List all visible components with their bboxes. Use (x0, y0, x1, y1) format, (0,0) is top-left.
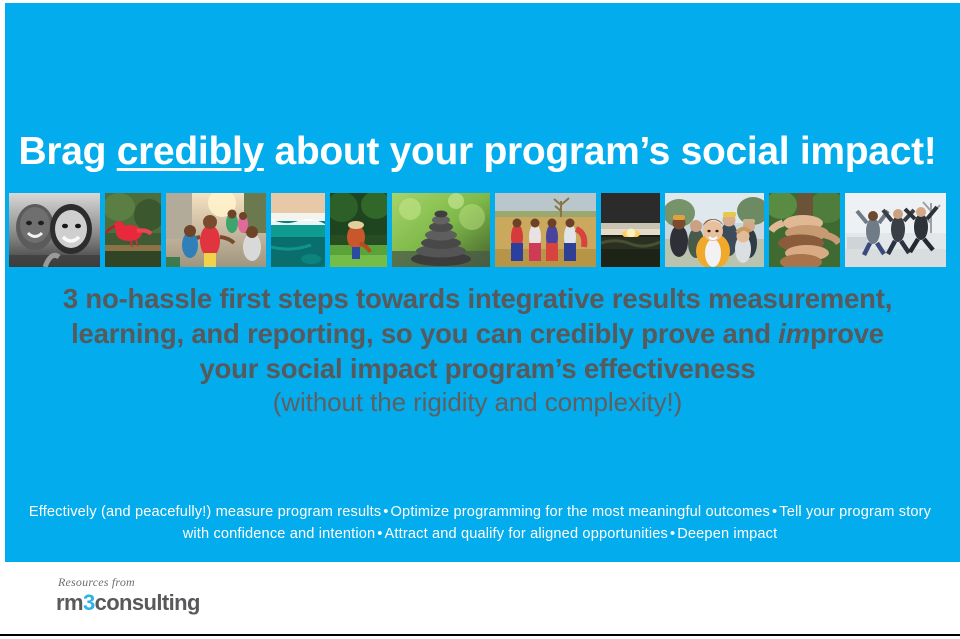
benefits-list: Effectively (and peacefully!) measure pr… (18, 501, 942, 545)
subtitle-emphasis-im: im (778, 318, 810, 349)
photo-aerial-beach-shoreline (271, 193, 325, 267)
rm3consulting-logo: Resources from rm3consulting (56, 575, 200, 615)
benefit-item: Deepen impact (677, 526, 777, 542)
benefit-item: Attract and qualify for aligned opportun… (385, 526, 668, 542)
headline-part-before: Brag (19, 130, 117, 173)
slide-canvas: Brag credibly about your program’s socia… (0, 0, 960, 639)
benefit-separator: • (668, 526, 677, 542)
subtitle-line-2-before: learning, and reporting, so you can cred… (71, 318, 778, 349)
photo-farmer-in-rice-field (330, 193, 387, 267)
photo-stacked-hands-teamwork (769, 193, 840, 267)
logo-wordmark: rm3consulting (56, 590, 200, 615)
logo-kicker-text: Resources from (58, 575, 200, 589)
photo-stacked-balancing-stones (392, 193, 490, 267)
subtitle-line-3: your social impact program’s effectivene… (18, 351, 937, 386)
subtitle-line-2-after: prove (810, 318, 884, 349)
benefit-separator: • (770, 504, 779, 520)
photo-maasai-women-grassland (495, 193, 596, 267)
subtitle-parenthetical: (without the rigidity and complexity!) (18, 386, 937, 418)
photo-children-running-village-road (166, 193, 266, 267)
photo-diverse-youth-group-selfie (665, 193, 764, 267)
headline-part-after: about your program’s social impact! (264, 130, 937, 173)
benefit-item: Effectively (and peacefully!) measure pr… (29, 504, 381, 520)
photo-sunset-over-dark-landscape (601, 193, 660, 267)
footer-bar: Resources from rm3consulting (0, 562, 960, 639)
page-title: Brag credibly about your program’s socia… (0, 129, 955, 175)
subtitle-line-1: 3 no-hassle first steps towards integrat… (18, 281, 937, 316)
benefit-item: Optimize programming for the most meanin… (391, 504, 770, 520)
photo-strip (9, 193, 950, 267)
subtitle-line-2: learning, and reporting, so you can cred… (18, 316, 937, 351)
headline-emphasis-credibly: credibly (117, 130, 264, 173)
benefit-separator: • (381, 504, 390, 520)
photo-people-jumping-celebration (845, 193, 946, 267)
logo-word-part1: rm (56, 590, 83, 615)
photo-two-smiling-children-bw (9, 193, 100, 267)
subtitle: 3 no-hassle first steps towards integrat… (18, 281, 937, 386)
logo-word-accent-3: 3 (83, 590, 95, 615)
photo-scarlet-ibis-bird (105, 193, 161, 267)
logo-word-part2: consulting (95, 590, 200, 615)
benefit-separator: • (375, 526, 384, 542)
bottom-divider (0, 634, 960, 636)
